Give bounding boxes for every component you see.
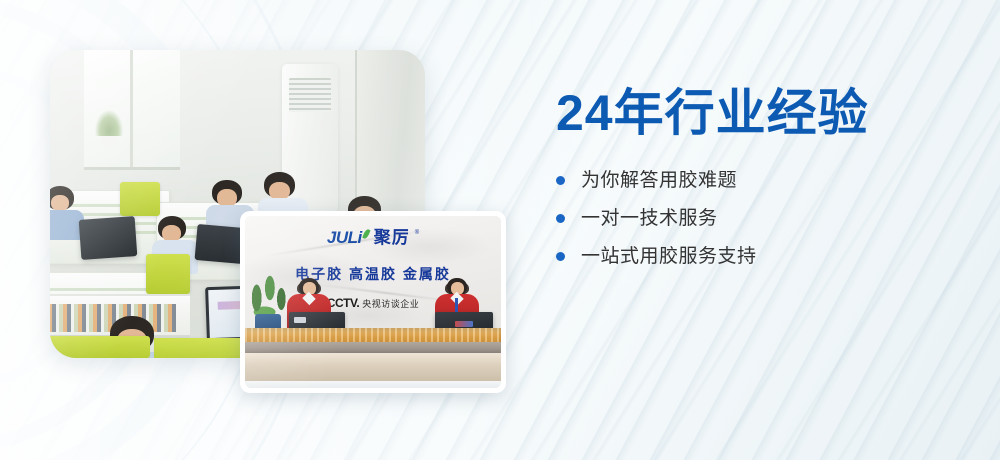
dot-icon: [556, 176, 565, 185]
reception-scene: JULi 聚厉 ® 电子胶 高温胶 金属胶 CCTV. 央视访谈企业: [245, 216, 501, 388]
list-item-label: 为你解答用胶难题: [581, 171, 737, 190]
promo-banner: JULi 聚厉 ® 电子胶 高温胶 金属胶 CCTV. 央视访谈企业: [0, 0, 1000, 460]
dot-icon: [556, 214, 565, 223]
list-item-label: 一对一技术服务: [581, 209, 718, 228]
logo-cn-text: 聚厉: [374, 229, 410, 246]
registered-mark: ®: [415, 230, 419, 236]
reception-photo: JULi 聚厉 ® 电子胶 高温胶 金属胶 CCTV. 央视访谈企业: [240, 211, 506, 393]
reception-plant: [249, 268, 289, 334]
page-title: 24年行业经验: [556, 86, 976, 141]
cctv-label: 央视访谈企业: [362, 297, 419, 310]
dot-icon: [556, 252, 565, 261]
list-item: 为你解答用胶难题: [556, 171, 976, 190]
list-item: 一站式用胶服务支持: [556, 247, 976, 266]
cctv-mark: CCTV.: [327, 296, 359, 310]
banner-content: 24年行业经验 为你解答用胶难题 一对一技术服务 一站式用胶服务支持: [556, 86, 976, 285]
wall-tagline: 电子胶 高温胶 金属胶: [295, 264, 451, 284]
cctv-badge: CCTV. 央视访谈企业: [327, 296, 419, 310]
leaf-icon: [362, 228, 370, 239]
reception-desk: [245, 353, 501, 383]
feature-list: 为你解答用胶难题 一对一技术服务 一站式用胶服务支持: [556, 171, 976, 266]
company-logo: JULi 聚厉 ®: [327, 229, 419, 246]
list-item: 一对一技术服务: [556, 209, 976, 228]
logo-latin-text: JULi: [327, 229, 362, 246]
list-item-label: 一站式用胶服务支持: [581, 247, 757, 266]
reception-floor: [245, 381, 501, 388]
